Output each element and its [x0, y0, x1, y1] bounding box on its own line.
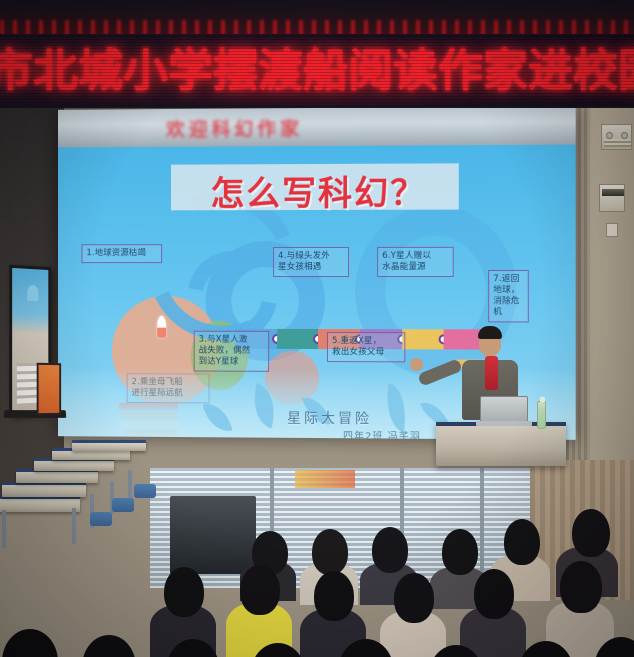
audience-head: [504, 519, 540, 565]
slide-step-3: 3.与X星人激 战失败，偶然 到达Y星球: [194, 331, 269, 372]
electrical-panel-icon: [599, 184, 625, 212]
air-conditioner-icon: [601, 124, 632, 150]
slide-step-1: 1.地球资源枯竭: [82, 244, 163, 263]
laptop-base: [476, 421, 532, 426]
audience-head: [572, 509, 610, 557]
led-banner-text: 市北城小学摆渡船阅读作家进校园马传思: [0, 36, 634, 106]
slide-step-4: 4.与绿头发外 星女孩相遇: [273, 247, 349, 277]
light-switch-icon: [606, 223, 618, 237]
timeline-segment-2: [277, 329, 319, 349]
laptop-screen: [480, 396, 528, 422]
audience-head: [164, 567, 204, 617]
audience-head: [2, 629, 58, 657]
water-bottle: [537, 401, 546, 429]
audience-head: [394, 573, 434, 623]
audience: [0, 483, 634, 657]
audience-head: [82, 635, 136, 657]
timeline-segment-5: [402, 329, 444, 349]
presenter-hand: [410, 358, 423, 371]
slide-step-7: 7.返回 地球， 消除危 机: [488, 270, 529, 322]
laptop: [476, 396, 532, 426]
bottle-cap: [540, 397, 545, 402]
lectern: [436, 422, 566, 466]
side-poster: [37, 363, 61, 415]
presenter-hair: [478, 326, 502, 339]
audience-head: [240, 565, 280, 615]
banner-logo-icon: [27, 285, 38, 301]
stage-secondary-banner-text: 欢迎科幻作家: [166, 113, 466, 139]
slide-step-5: 5.重返X星， 救出女孩父母: [327, 332, 405, 362]
slide-step-2: 2.乘坐母飞船 进行星际远航: [127, 373, 210, 403]
slide-step-6: 6.Y星人赠以 水晶能量源: [377, 247, 454, 277]
audience-head: [442, 529, 478, 575]
presenter-scarf: [485, 356, 498, 390]
slide-caption-author: 四年2班 冯芊羽: [343, 427, 421, 440]
audience-head: [372, 527, 408, 573]
slide-title: 怎么写科幻？: [184, 165, 454, 215]
audience-head: [314, 571, 354, 621]
led-banner: 市北城小学摆渡船阅读作家进校园马传思: [0, 34, 634, 108]
stage-secondary-banner: 欢迎科幻作家: [58, 108, 576, 147]
audience-head: [560, 561, 602, 613]
slide-caption-title: 星际大冒险: [287, 408, 372, 429]
audience-head: [474, 569, 514, 619]
ceiling: [0, 0, 634, 34]
rocket-icon: [157, 316, 166, 338]
photo-scene: 市北城小学摆渡船阅读作家进校园马传思: [0, 0, 634, 657]
audience-head: [312, 529, 348, 575]
auditorium-room: 欢迎科幻作家: [0, 108, 634, 657]
